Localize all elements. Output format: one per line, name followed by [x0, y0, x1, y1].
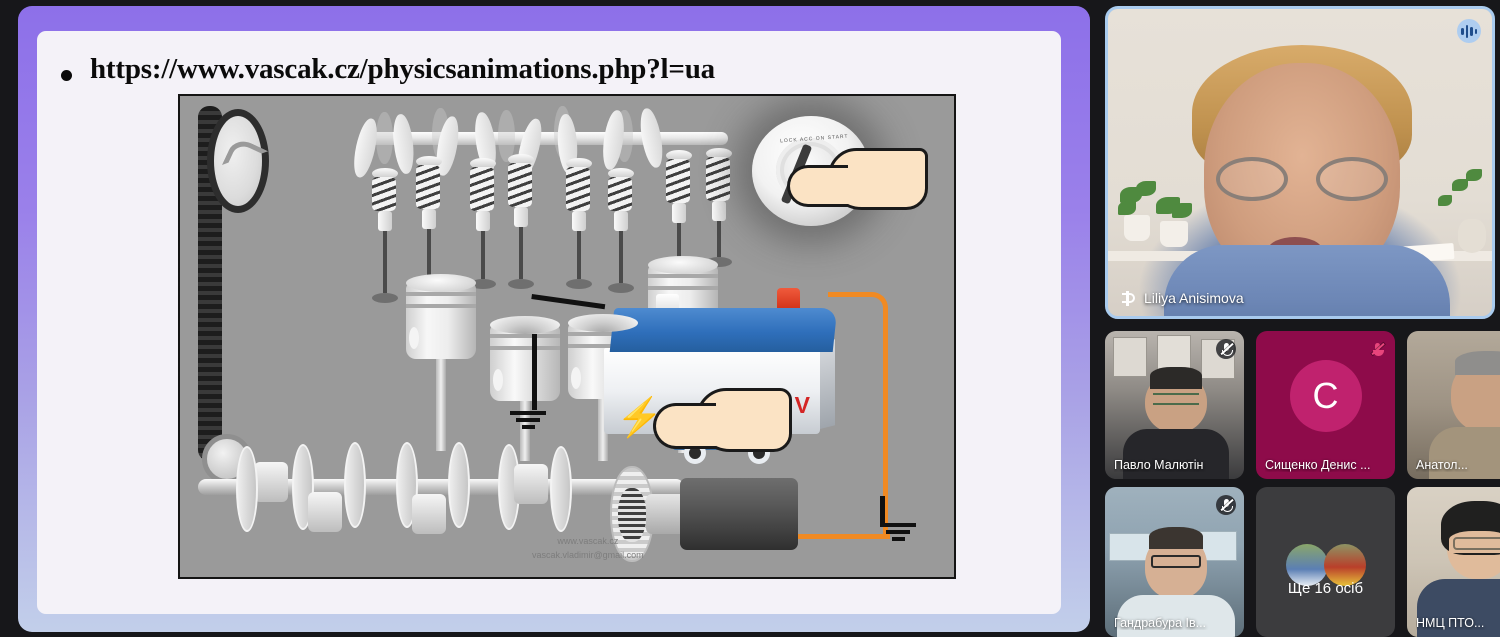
crank-journal	[514, 464, 548, 504]
wall-document	[1113, 337, 1147, 377]
participant-tile-nmc-pto[interactable]: НМЦ ПТО...	[1407, 487, 1500, 637]
mute-icon	[1216, 495, 1236, 515]
participant-hair	[1455, 351, 1500, 375]
crank-journal	[412, 494, 446, 534]
presentation-slide[interactable]: https://www.vascak.cz/physicsanimations.…	[37, 31, 1061, 614]
audio-active-icon	[1457, 19, 1481, 43]
crank-journal	[254, 462, 288, 502]
positive-wire	[798, 534, 890, 539]
cam-lobe-ghost	[376, 112, 393, 164]
main-speaker-name-bar: Liliya Anisimova	[1122, 290, 1244, 306]
participant-hair	[1149, 527, 1203, 549]
eyeglasses-icon	[1153, 393, 1199, 405]
participant-name: Гандрабура Ів...	[1114, 616, 1220, 630]
more-participants-tile[interactable]: Ще 16 осіб	[1256, 487, 1395, 637]
eyeglasses-icon	[1216, 157, 1388, 201]
valve-assembly	[666, 150, 692, 267]
diagram-watermark: www.vascak.cz vascak.vladimir@gmail.com	[532, 534, 644, 562]
mute-icon	[1367, 339, 1387, 359]
eyeglasses-icon	[1151, 555, 1201, 568]
pointing-hand-icon	[828, 148, 928, 210]
engine-animation-diagram[interactable]: LOCK ACC ON START ⚡	[178, 94, 956, 579]
pointing-hand-icon	[696, 388, 792, 452]
speaker-video-background	[1108, 9, 1492, 316]
participant-name: НМЦ ПТО...	[1416, 616, 1500, 630]
participant-name: Анатол...	[1416, 458, 1500, 472]
valve-assembly	[566, 158, 592, 289]
valve-assembly	[470, 158, 496, 289]
piston	[490, 316, 560, 461]
avatar-initial: C	[1290, 360, 1362, 432]
watermark-email: vascak.vladimir@gmail.com	[532, 548, 644, 562]
main-speaker-name: Liliya Anisimova	[1144, 290, 1244, 306]
valve-assembly	[706, 148, 732, 267]
camshaft-rod	[360, 132, 728, 145]
participant-tile-handrabura[interactable]: Гандрабура Ів...	[1105, 487, 1244, 637]
ground-symbol-icon	[510, 408, 546, 429]
slide-bullet-line: https://www.vascak.cz/physicsanimations.…	[61, 53, 715, 86]
crank-web	[448, 442, 470, 528]
crank-web	[344, 442, 366, 528]
participant-tile-anatol[interactable]: Анатол...	[1407, 331, 1500, 479]
participant-tile-pavlo[interactable]: Павло Малютін	[1105, 331, 1244, 479]
participants-panel: Liliya Anisimova Павло Малютін C Сищенко…	[1100, 0, 1500, 637]
participant-name: Павло Малютін	[1114, 458, 1220, 472]
valve-assembly	[508, 154, 534, 289]
main-speaker-tile[interactable]: Liliya Anisimova	[1105, 6, 1495, 319]
camshaft-sprocket-icon	[207, 109, 269, 213]
participant-tile-syshchenko[interactable]: C Сищенко Денис ...	[1256, 331, 1395, 479]
negative-wire	[531, 294, 605, 309]
participant-hair	[1150, 367, 1202, 389]
shared-screen-frame[interactable]: https://www.vascak.cz/physicsanimations.…	[18, 6, 1090, 632]
positive-wire	[828, 292, 888, 538]
pin-icon	[1122, 291, 1135, 306]
crank-journal	[308, 492, 342, 532]
cam-lobe	[391, 113, 416, 175]
bullet-dot-icon	[61, 70, 72, 81]
valve-assembly	[608, 168, 634, 293]
negative-wire	[532, 334, 537, 410]
speaker-torso	[1164, 245, 1450, 319]
piston	[406, 274, 476, 451]
meeting-window: https://www.vascak.cz/physicsanimations.…	[0, 0, 1500, 637]
crank-web	[236, 446, 258, 532]
eyeglasses-icon	[1453, 537, 1500, 550]
ground-symbol-icon	[880, 520, 916, 541]
starter-motor	[680, 478, 798, 550]
crank-web	[550, 446, 572, 532]
more-participants-label: Ще 16 осіб	[1256, 580, 1395, 597]
participant-name: Сищенко Денис ...	[1265, 458, 1371, 472]
slide-url-text: https://www.vascak.cz/physicsanimations.…	[90, 53, 715, 86]
wall-poster	[1109, 533, 1151, 561]
valve-assembly	[372, 168, 398, 303]
battery-top-cover	[610, 308, 838, 352]
watermark-site: www.vascak.cz	[532, 534, 644, 548]
mute-icon	[1216, 339, 1236, 359]
